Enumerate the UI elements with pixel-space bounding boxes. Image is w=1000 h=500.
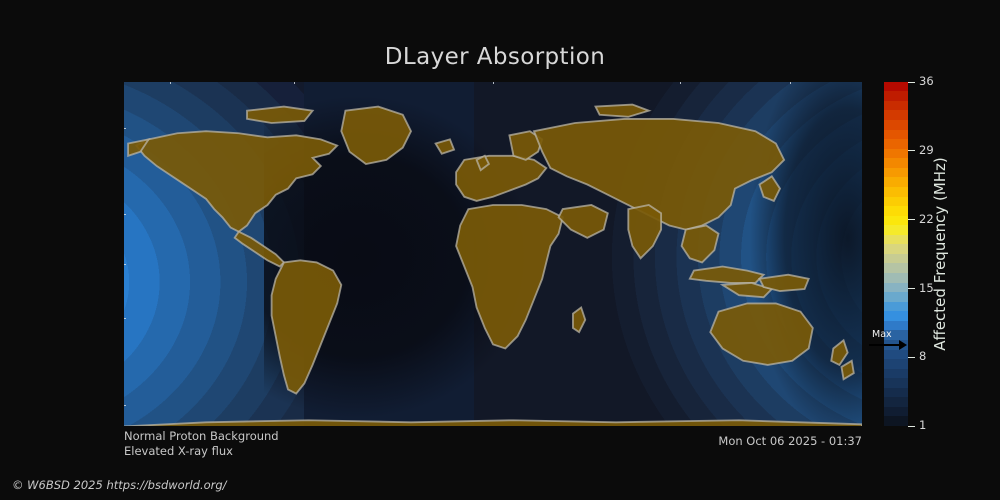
timestamp-text: Mon Oct 06 2025 - 01:37 <box>600 434 862 449</box>
colorbar-axis-label: Affected Frequency (MHz) <box>928 82 952 426</box>
map-inner <box>124 82 862 426</box>
proton-status-text: Normal Proton Background <box>124 429 279 444</box>
colorbar-tick-dash <box>908 288 915 289</box>
colorbar-tick-dash <box>908 219 915 220</box>
colorbar-tick-dash <box>908 150 915 151</box>
xray-status-text: Elevated X-ray flux <box>124 444 279 459</box>
page-title: DLayer Absorption <box>0 44 990 70</box>
max-marker-label: Max <box>872 329 892 340</box>
colorbar-tick-label: 8 <box>919 351 926 363</box>
colorbar-tick-dash <box>908 82 915 83</box>
colorbar-max-marker: Max <box>868 329 910 353</box>
status-captions: Normal Proton Background Elevated X-ray … <box>124 429 279 459</box>
footer-credit: © W6BSD 2025 https://bsdworld.org/ <box>12 478 227 492</box>
dlayer-absorption-page: DLayer Absorption <box>0 0 1000 500</box>
world-map[interactable] <box>124 82 862 426</box>
max-marker-arrow-head <box>899 340 907 350</box>
max-marker-arrow-line <box>869 344 901 346</box>
colorbar-axis-label-text: Affected Frequency (MHz) <box>931 157 949 351</box>
colorbar-tick-dash <box>908 426 915 427</box>
continents-layer <box>124 82 862 426</box>
colorbar-tick-label: 1 <box>919 420 926 432</box>
colorbar-tick-dash <box>908 357 915 358</box>
